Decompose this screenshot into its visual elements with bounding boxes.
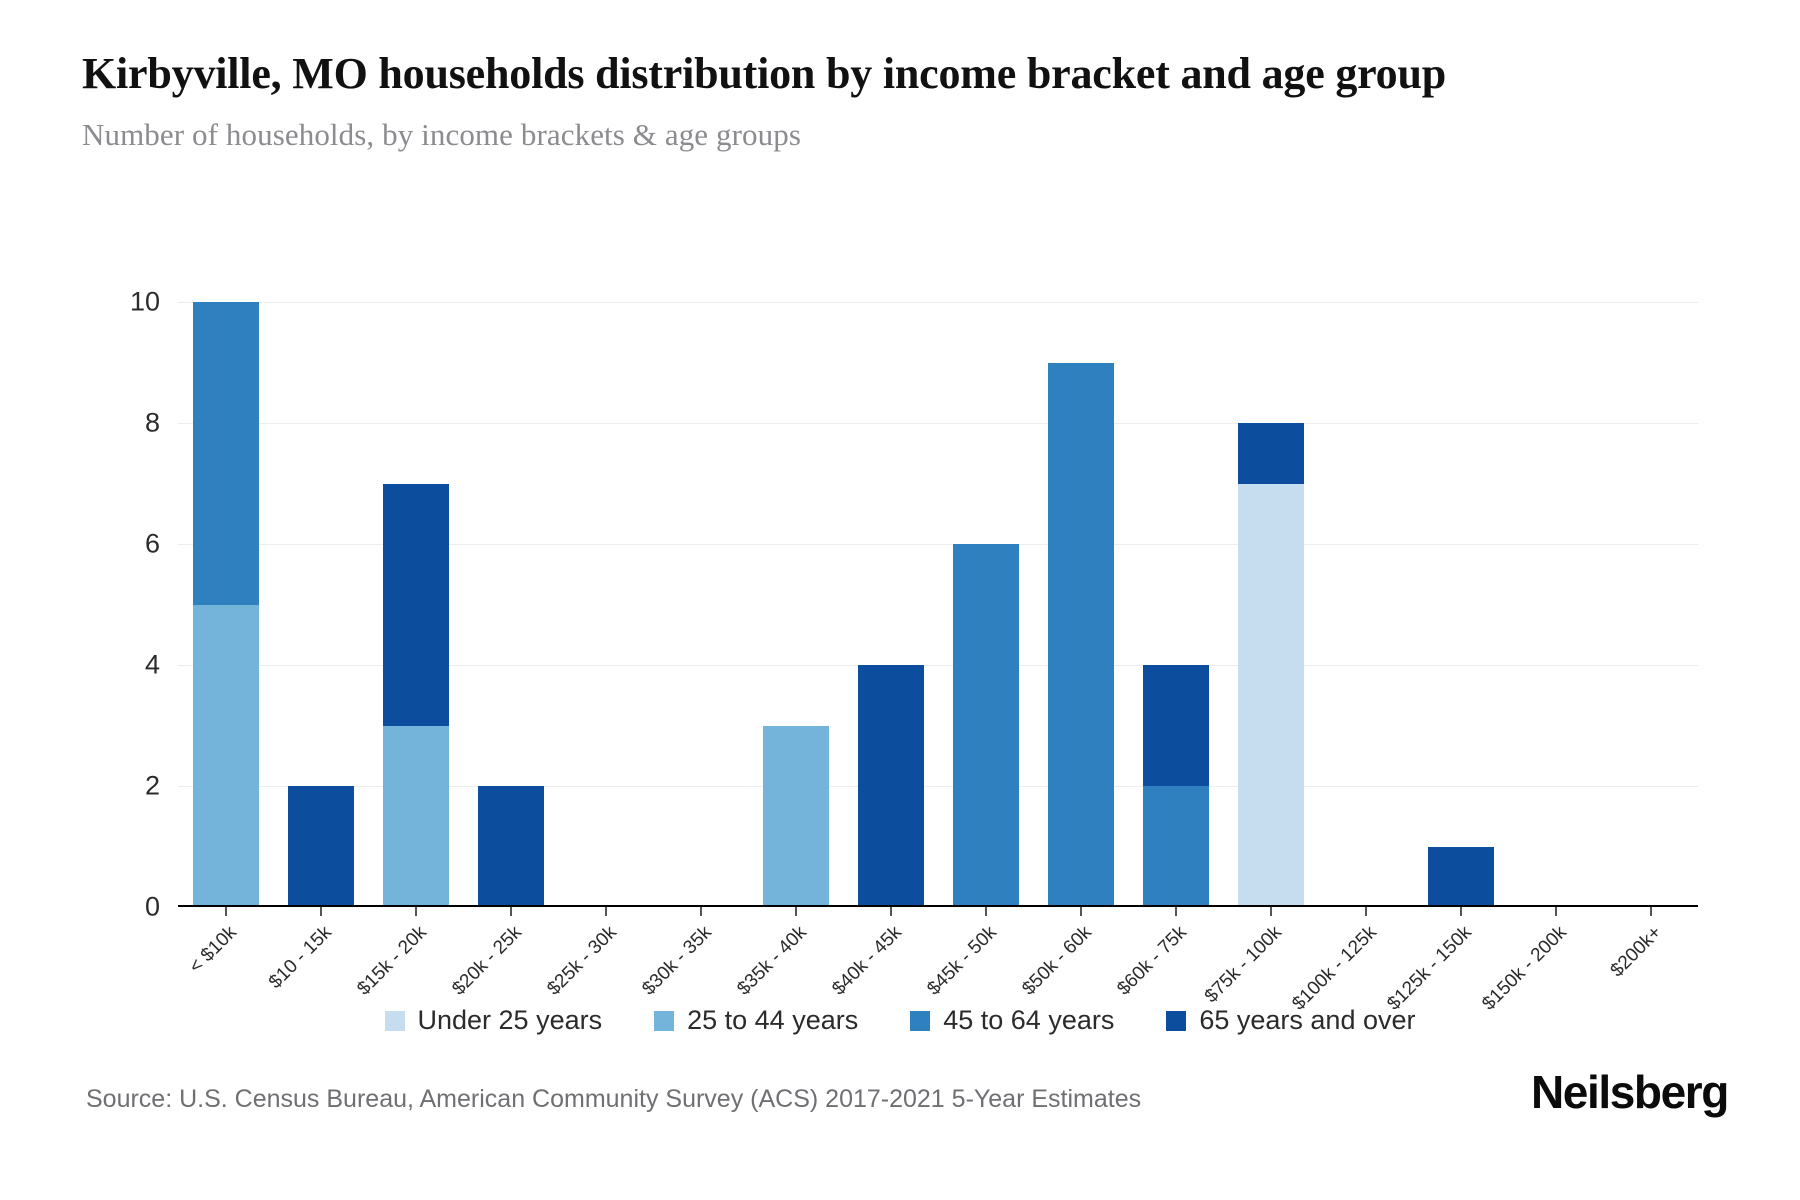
bar-stack[interactable] [193,302,259,907]
bar-stack[interactable] [953,544,1019,907]
bar-group[interactable] [558,302,653,907]
bar-series-group [178,302,1698,907]
legend-swatch-icon [654,1011,674,1031]
x-tick-slot [368,907,463,917]
bar-segment[interactable] [193,302,259,605]
legend-label: Under 25 years [418,1005,603,1036]
bar-segment[interactable] [1143,786,1209,907]
bar-segment[interactable] [1238,484,1304,908]
x-tick-mark [1175,907,1177,916]
bar-segment[interactable] [1238,423,1304,484]
bar-group[interactable] [1318,302,1413,907]
x-tick-mark [1460,907,1462,916]
x-tick-mark [1650,907,1652,916]
x-axis-tick-label: < $10k [185,922,241,978]
chart-subtitle: Number of households, by income brackets… [82,117,1642,153]
bar-segment[interactable] [288,786,354,907]
bar-group[interactable] [843,302,938,907]
x-tick-slot [1508,907,1603,917]
bar-segment[interactable] [1143,665,1209,786]
bar-segment[interactable] [763,726,829,908]
brand-logo: Neilsberg [1531,1065,1728,1119]
x-tick-slot [1033,907,1128,917]
bar-stack[interactable] [1048,363,1114,908]
x-tick-mark [1080,907,1082,916]
bar-segment[interactable] [193,605,259,908]
x-tick-slot [653,907,748,917]
bar-segment[interactable] [1428,847,1494,908]
bar-stack[interactable] [1143,665,1209,907]
x-tick-mark [700,907,702,916]
x-tick-mark [1365,907,1367,916]
legend-item[interactable]: 45 to 64 years [910,1005,1114,1036]
bar-group[interactable] [463,302,558,907]
chart-header: Kirbyville, MO households distribution b… [82,48,1642,153]
x-tick-mark [890,907,892,916]
x-tick-mark [985,907,987,916]
x-tick-slot [1603,907,1698,917]
bar-group[interactable] [938,302,1033,907]
bar-segment[interactable] [478,786,544,907]
x-tick-slot [1223,907,1318,917]
x-tick-slot [1128,907,1223,917]
bar-group[interactable] [368,302,463,907]
bar-stack[interactable] [383,484,449,908]
y-axis-tick-label: 2 [100,771,160,802]
y-axis-tick-label: 10 [100,287,160,318]
source-note: Source: U.S. Census Bureau, American Com… [86,1085,1141,1114]
x-tick-mark [510,907,512,916]
bar-group[interactable] [653,302,748,907]
x-tick-mark [1555,907,1557,916]
bar-segment[interactable] [858,665,924,907]
x-tick-slot [938,907,1033,917]
bar-stack[interactable] [858,665,924,907]
legend-swatch-icon [385,1011,405,1031]
legend-label: 65 years and over [1199,1005,1415,1036]
bar-group[interactable] [748,302,843,907]
chart-legend: Under 25 years25 to 44 years45 to 64 yea… [0,1005,1800,1036]
x-tick-slot [178,907,273,917]
x-tick-slot [1413,907,1508,917]
bar-group[interactable] [1603,302,1698,907]
x-tick-mark [1270,907,1272,916]
x-tick-mark [320,907,322,916]
bar-segment[interactable] [953,544,1019,907]
x-tick-slot [273,907,368,917]
legend-label: 25 to 44 years [687,1005,858,1036]
bar-stack[interactable] [763,726,829,908]
legend-item[interactable]: Under 25 years [385,1005,603,1036]
bar-segment[interactable] [383,484,449,726]
x-tick-mark [225,907,227,916]
x-tick-slot [748,907,843,917]
y-axis-tick-label: 0 [100,892,160,923]
x-tick-slot [463,907,558,917]
chart-page: Kirbyville, MO households distribution b… [0,0,1800,1200]
legend-swatch-icon [910,1011,930,1031]
legend-label: 45 to 64 years [943,1005,1114,1036]
bar-group[interactable] [1128,302,1223,907]
bar-group[interactable] [1223,302,1318,907]
bar-group[interactable] [1508,302,1603,907]
x-tick-slot [558,907,653,917]
x-tick-slot [1318,907,1413,917]
x-axis-tick-label: $10 - 15k [264,922,336,994]
y-axis-tick-label: 4 [100,650,160,681]
bar-group[interactable] [178,302,273,907]
plot-canvas [178,302,1698,907]
bar-group[interactable] [1033,302,1128,907]
x-tick-mark [795,907,797,916]
plot-area: 0246810 < $10k$10 - 15k$15k - 20k$20k - … [0,290,1800,910]
bar-segment[interactable] [1048,363,1114,908]
y-axis-tick-label: 8 [100,408,160,439]
x-axis-ticks [178,907,1698,917]
legend-item[interactable]: 25 to 44 years [654,1005,858,1036]
y-axis-tick-label: 6 [100,529,160,560]
x-tick-mark [605,907,607,916]
x-tick-mark [415,907,417,916]
x-tick-slot [843,907,938,917]
legend-item[interactable]: 65 years and over [1166,1005,1415,1036]
bar-stack[interactable] [288,786,354,907]
bar-stack[interactable] [1238,423,1304,907]
legend-swatch-icon [1166,1011,1186,1031]
bar-stack[interactable] [478,786,544,907]
bar-stack[interactable] [1428,847,1494,908]
bar-segment[interactable] [383,726,449,908]
bar-group[interactable] [1413,302,1508,907]
bar-group[interactable] [273,302,368,907]
x-axis-tick-label: $200k+ [1606,922,1666,982]
page-title: Kirbyville, MO households distribution b… [82,48,1622,99]
